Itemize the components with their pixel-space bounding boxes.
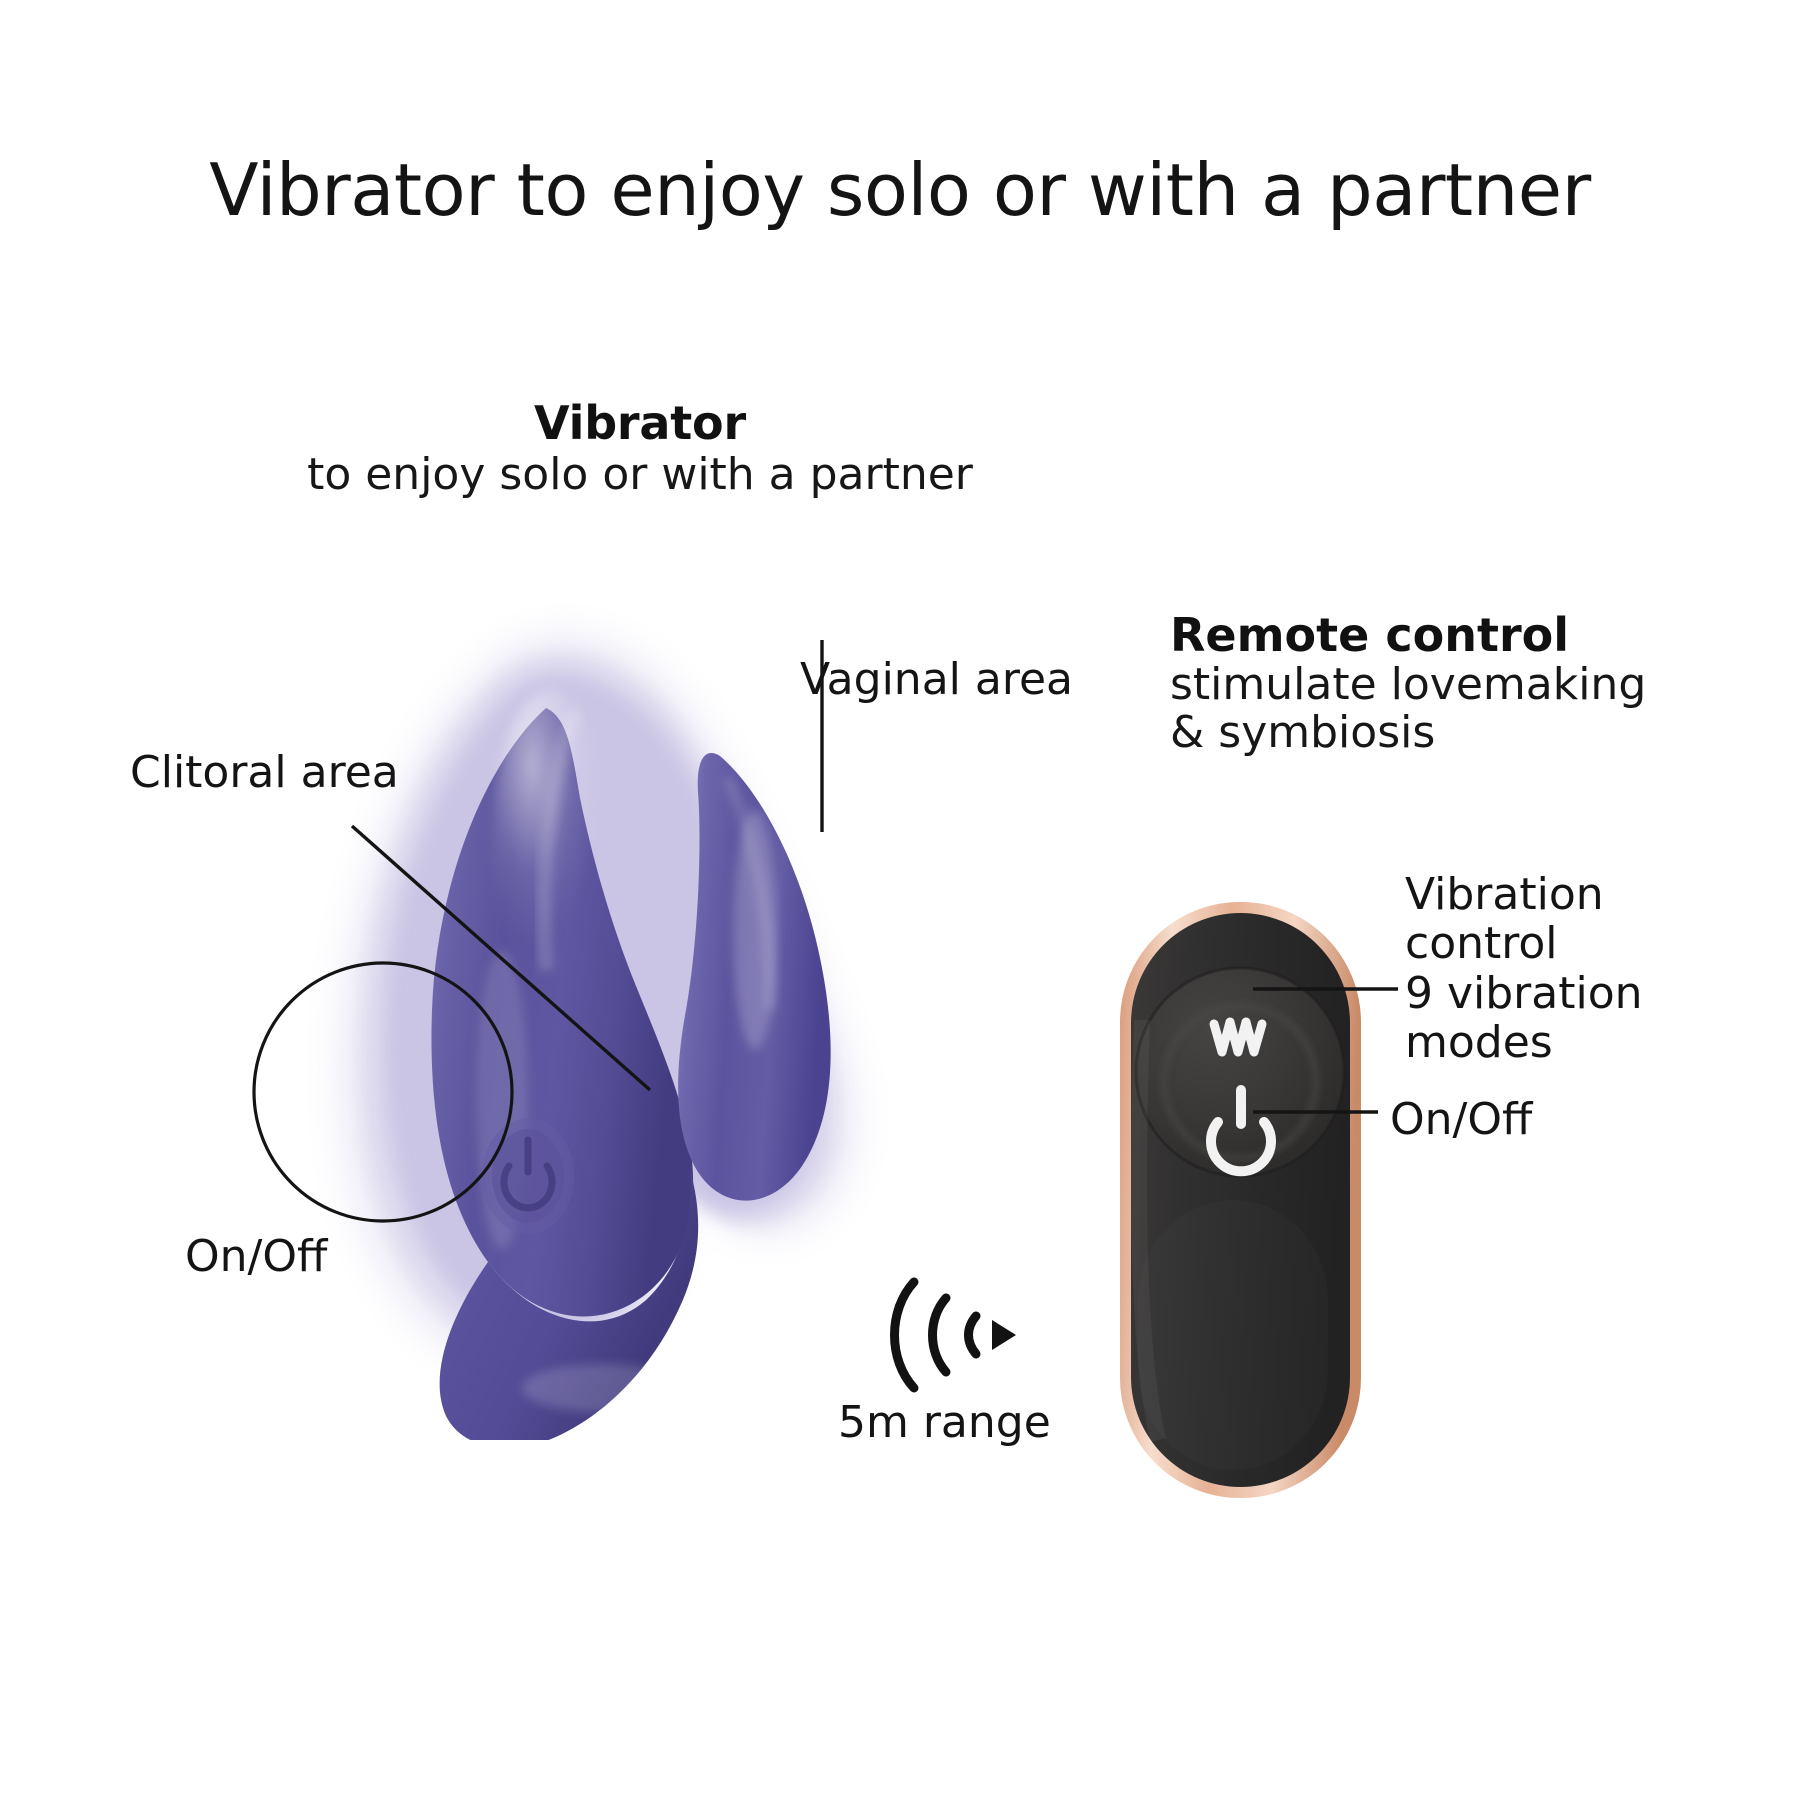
remote-caption-line2: & symbiosis [1170, 709, 1690, 757]
remote-caption-line1: stimulate lovemaking [1170, 661, 1690, 709]
label-5m-range: 5m range [838, 1398, 1051, 1449]
remote-control-product-image [1118, 900, 1363, 1500]
label-vaginal-area: Vaginal area [800, 655, 1073, 706]
vibrator-caption-subtitle: to enjoy solo or with a partner [290, 450, 990, 499]
vibration-control-line2: control [1405, 919, 1785, 968]
vibration-control-line4: modes [1405, 1018, 1785, 1067]
label-on-off-vibrator: On/Off [185, 1232, 327, 1283]
label-on-off-remote: On/Off [1390, 1095, 1532, 1146]
remote-caption-title: Remote control [1170, 610, 1690, 661]
label-clitoral-area: Clitoral area [130, 748, 399, 799]
vibrator-caption: Vibrator to enjoy solo or with a partner [290, 398, 990, 499]
page-title: Vibrator to enjoy solo or with a partner [0, 148, 1800, 232]
vibrator-caption-title: Vibrator [290, 398, 990, 450]
infographic-canvas: Vibrator to enjoy solo or with a partner… [0, 0, 1800, 1800]
wireless-signal-icon [880, 1270, 1020, 1400]
vibration-control-line3: 9 vibration [1405, 969, 1785, 1018]
vibration-control-line1: Vibration [1405, 870, 1785, 919]
remote-caption: Remote control stimulate lovemaking & sy… [1170, 610, 1690, 757]
label-vibration-control: Vibration control 9 vibration modes [1405, 870, 1785, 1067]
vibrator-power-button [482, 1118, 574, 1234]
